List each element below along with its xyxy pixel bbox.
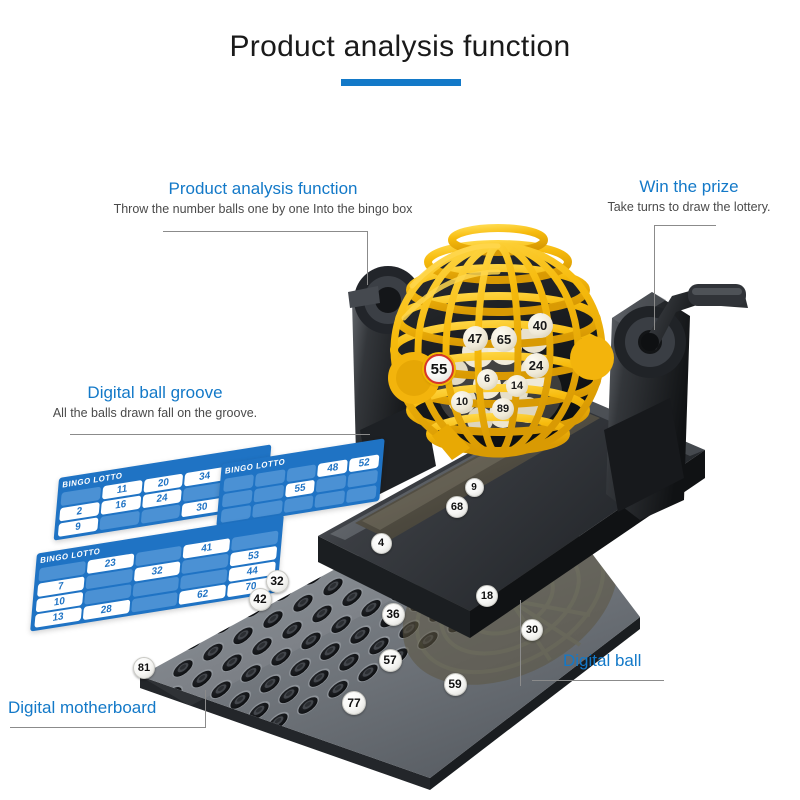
cage-number-ball: 14 [506, 375, 528, 397]
callout-sub-win-the-prize: Take turns to draw the lottery. [595, 199, 783, 215]
callout-digital-ball-groove: Digital ball groove All the balls drawn … [40, 382, 270, 422]
leader-line-win-the-prize-h [654, 225, 716, 226]
cage-number-ball: 55 [424, 354, 454, 384]
bingo-cell [346, 485, 377, 503]
cage-number-ball: 89 [492, 398, 514, 420]
leader-line-product-analysis-h [163, 231, 368, 232]
leader-line-digital-motherboard-h [10, 727, 206, 728]
board-number-ball: 30 [521, 619, 543, 641]
cage-number-ball: 40 [528, 313, 553, 338]
board-number-ball: 57 [379, 649, 402, 672]
callout-heading-digital-motherboard: Digital motherboard [8, 697, 156, 718]
board-number-ball: 18 [476, 585, 498, 607]
board-number-ball: 36 [382, 603, 405, 626]
infographic-page: Product analysis function [0, 0, 800, 800]
board-number-ball: 81 [133, 657, 155, 679]
right-support-arm [604, 292, 690, 520]
cage-number-ball: 10 [451, 391, 473, 413]
board-number-ball: 32 [266, 570, 289, 593]
callout-heading-digital-ball: Digital ball [563, 650, 641, 671]
leader-line-digital-motherboard-v [205, 690, 206, 728]
board-number-ball: 77 [342, 691, 366, 715]
board-number-ball: 59 [444, 673, 467, 696]
digital-ball-groove [355, 405, 600, 540]
callout-sub-product-analysis: Throw the number balls one by one Into t… [97, 201, 429, 217]
callout-product-analysis: Product analysis function Throw the numb… [97, 178, 429, 218]
leader-line-digital-ball-v [520, 600, 521, 686]
bingo-cell [283, 495, 314, 513]
cage-number-ball: 47 [463, 326, 488, 351]
cage-number-ball: 24 [524, 353, 549, 378]
crank-handle [641, 284, 748, 351]
callout-digital-ball: Digital ball [563, 650, 641, 671]
leader-line-product-analysis-v [367, 231, 368, 285]
board-number-ball: 42 [249, 588, 272, 611]
callout-sub-digital-ball-groove: All the balls drawn fall on the groove. [40, 405, 270, 421]
page-title: Product analysis function [0, 30, 800, 64]
machine-base [318, 394, 705, 638]
leader-line-win-the-prize-v [654, 225, 655, 330]
cage-shadow [374, 481, 647, 720]
title-underline [341, 79, 461, 86]
board-number-ball: 68 [446, 496, 468, 518]
callout-win-the-prize: Win the prize Take turns to draw the lot… [595, 176, 783, 216]
callout-heading-win-the-prize: Win the prize [595, 176, 783, 197]
callout-digital-motherboard: Digital motherboard [8, 697, 156, 718]
leader-line-digital-ball-groove [70, 434, 370, 435]
board-number-ball: 9 [465, 478, 484, 497]
cage-number-ball: 65 [491, 326, 517, 352]
callout-heading-digital-ball-groove: Digital ball groove [40, 382, 270, 403]
callout-heading-product-analysis: Product analysis function [97, 178, 429, 199]
board-number-ball: 4 [371, 533, 392, 554]
bingo-cell [315, 490, 346, 508]
cage-number-ball: 6 [477, 369, 498, 390]
leader-line-digital-ball-h [532, 680, 664, 681]
